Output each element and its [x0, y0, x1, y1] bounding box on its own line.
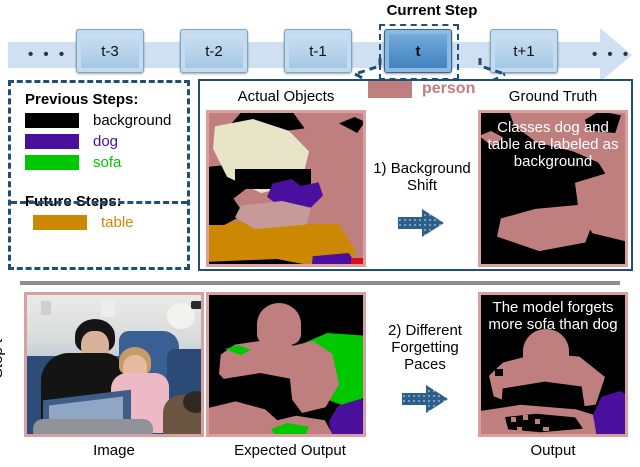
annotation-background-shift: 1) Background Shift: [370, 160, 474, 194]
legend-item-label: table: [101, 214, 134, 231]
class-legend: Previous Steps: background dog sofa Futu…: [8, 80, 190, 270]
segment-speckle: [517, 427, 522, 431]
legend-item-label: background: [93, 112, 171, 129]
segment-dog: [329, 399, 366, 437]
legend-divider: [11, 201, 187, 204]
color-swatch-icon: [25, 113, 79, 128]
image-expected-output: [206, 292, 366, 437]
legend-item-person: person: [368, 80, 475, 98]
legend-previous-title: Previous Steps:: [25, 91, 187, 108]
timeline-step-label: t-3: [101, 43, 119, 60]
timeline-left-ellipsis: • • •: [28, 48, 67, 62]
section-divider: [20, 281, 620, 285]
timeline-right-ellipsis: • • •: [592, 48, 631, 62]
legend-item-sofa: sofa: [25, 154, 187, 171]
segment-person: [257, 303, 301, 345]
annotation-line-2: Forgetting: [391, 339, 459, 356]
image-ground-truth: Classes dog and table are labeled as bac…: [478, 110, 628, 267]
annotation-line-1: 2) Different: [388, 322, 462, 339]
timeline-step-t-2[interactable]: t-2: [180, 29, 248, 73]
legend-item-label: sofa: [93, 154, 121, 171]
color-swatch-icon: [33, 215, 87, 230]
photo-wall-frame: [101, 299, 115, 317]
segment-person: [497, 205, 593, 253]
photo-lamp-arm: [191, 301, 203, 309]
image-actual-objects: [206, 110, 366, 267]
photo-legs: [33, 419, 153, 437]
segment-dog: [593, 391, 628, 437]
segment-speckle: [523, 415, 528, 420]
ground-truth-overlay-text: Classes dog and table are labeled as bac…: [481, 119, 625, 170]
legend-item-label: dog: [93, 133, 118, 150]
annotation-line-3: Paces: [404, 356, 446, 373]
color-swatch-icon: [25, 155, 79, 170]
image-model-output: The model forgets more sofa than dog: [478, 292, 628, 437]
timeline-step-label: t-2: [205, 43, 223, 60]
annotation-line-2: Shift: [407, 177, 437, 194]
segment-speckle: [543, 427, 549, 431]
color-swatch-icon: [368, 81, 412, 98]
caption-output: Output: [478, 442, 628, 459]
arrow-right-icon: [398, 208, 444, 238]
caption-ground-truth: Ground Truth: [478, 88, 628, 105]
legend-item-dog: dog: [25, 133, 187, 150]
legend-item-label: person: [422, 80, 475, 98]
legend-item-table: table: [33, 214, 187, 231]
legend-item-background: background: [25, 112, 187, 129]
photo-dog-head: [183, 391, 204, 413]
annotation-line-1: 1) Background: [373, 160, 471, 177]
segment-speckle: [535, 419, 540, 424]
caption-image: Image: [24, 442, 204, 459]
arrow-right-icon: [402, 384, 448, 414]
row-label-step-t: Step t: [0, 339, 6, 378]
segment-speckle: [511, 417, 516, 422]
segment-speckle: [495, 369, 503, 376]
segment-marker: [351, 258, 365, 267]
caption-actual-objects: Actual Objects: [206, 88, 366, 105]
timeline-step-t-3[interactable]: t-3: [76, 29, 144, 73]
annotation-forgetting-paces: 2) Different Forgetting Paces: [372, 322, 478, 373]
image-input-photo: [24, 292, 204, 437]
segment-background: [339, 117, 365, 133]
color-swatch-icon: [25, 134, 79, 149]
photo-wall-frame: [41, 301, 51, 315]
current-step-label: Current Step: [372, 2, 492, 19]
output-overlay-text: The model forgets more sofa than dog: [481, 299, 625, 333]
caption-expected-output: Expected Output: [200, 442, 380, 459]
